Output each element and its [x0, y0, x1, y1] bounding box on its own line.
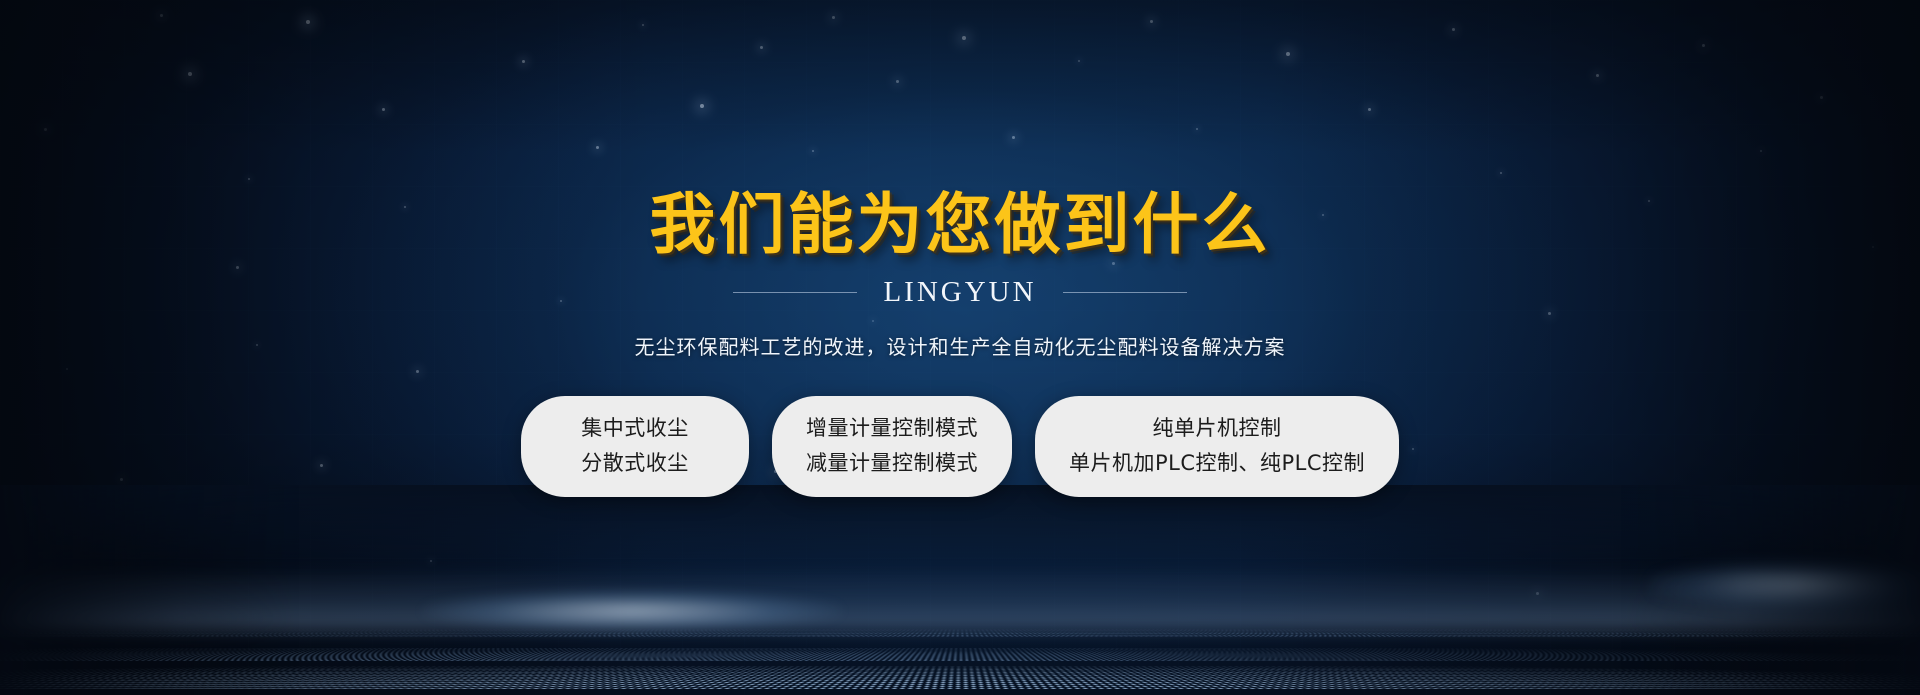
divider-right [1063, 292, 1187, 293]
pill-line-1: 增量计量控制模式 [806, 416, 978, 440]
pill-line-2: 分散式收尘 [581, 451, 689, 475]
brand-subtitle-row: LINGYUN [733, 276, 1186, 309]
pill-line-1: 纯单片机控制 [1153, 416, 1282, 440]
feature-pill-dust-collection[interactable]: 集中式收尘 分散式收尘 [521, 396, 749, 497]
brand-name-en: LINGYUN [883, 276, 1036, 309]
feature-pill-metering-mode[interactable]: 增量计量控制模式 减量计量控制模式 [772, 396, 1012, 497]
pill-line-2: 减量计量控制模式 [806, 451, 978, 475]
page-title: 我们能为您做到什么 [650, 192, 1271, 258]
divider-left [733, 292, 857, 293]
hero-banner: 我们能为您做到什么 LINGYUN 无尘环保配料工艺的改进，设计和生产全自动化无… [0, 0, 1920, 695]
banner-content: 我们能为您做到什么 LINGYUN 无尘环保配料工艺的改进，设计和生产全自动化无… [0, 0, 1920, 695]
feature-pill-control-system[interactable]: 纯单片机控制 单片机加PLC控制、纯PLC控制 [1035, 396, 1399, 497]
pill-line-2: 单片机加PLC控制、纯PLC控制 [1069, 451, 1365, 475]
tagline: 无尘环保配料工艺的改进，设计和生产全自动化无尘配料设备解决方案 [635, 331, 1286, 360]
pill-line-1: 集中式收尘 [581, 416, 689, 440]
feature-pill-row: 集中式收尘 分散式收尘 增量计量控制模式 减量计量控制模式 纯单片机控制 单片机… [521, 396, 1399, 497]
